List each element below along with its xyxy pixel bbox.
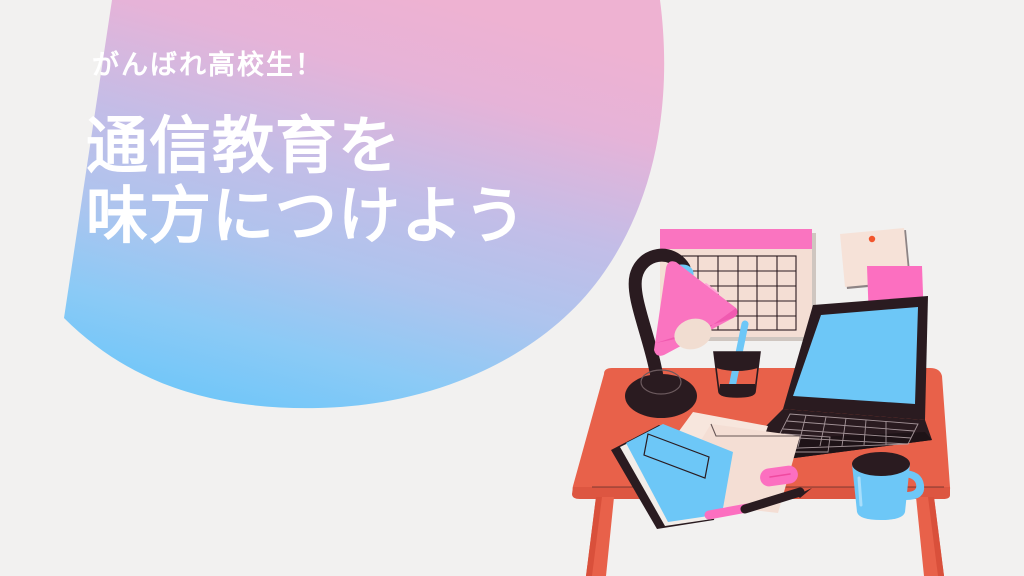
pen-cup-rim [714, 352, 760, 371]
lamp-base [625, 374, 697, 418]
study-desk-illustration [0, 0, 1024, 576]
slide-canvas: がんばれ高校生！ 通信教育を 味方につけよう [0, 0, 1024, 576]
mug-highlight [859, 478, 861, 505]
pushpin-icon [869, 236, 875, 242]
mug-coffee [852, 452, 910, 476]
pen-cup-bottom [719, 384, 755, 397]
calendar-header [660, 229, 812, 249]
